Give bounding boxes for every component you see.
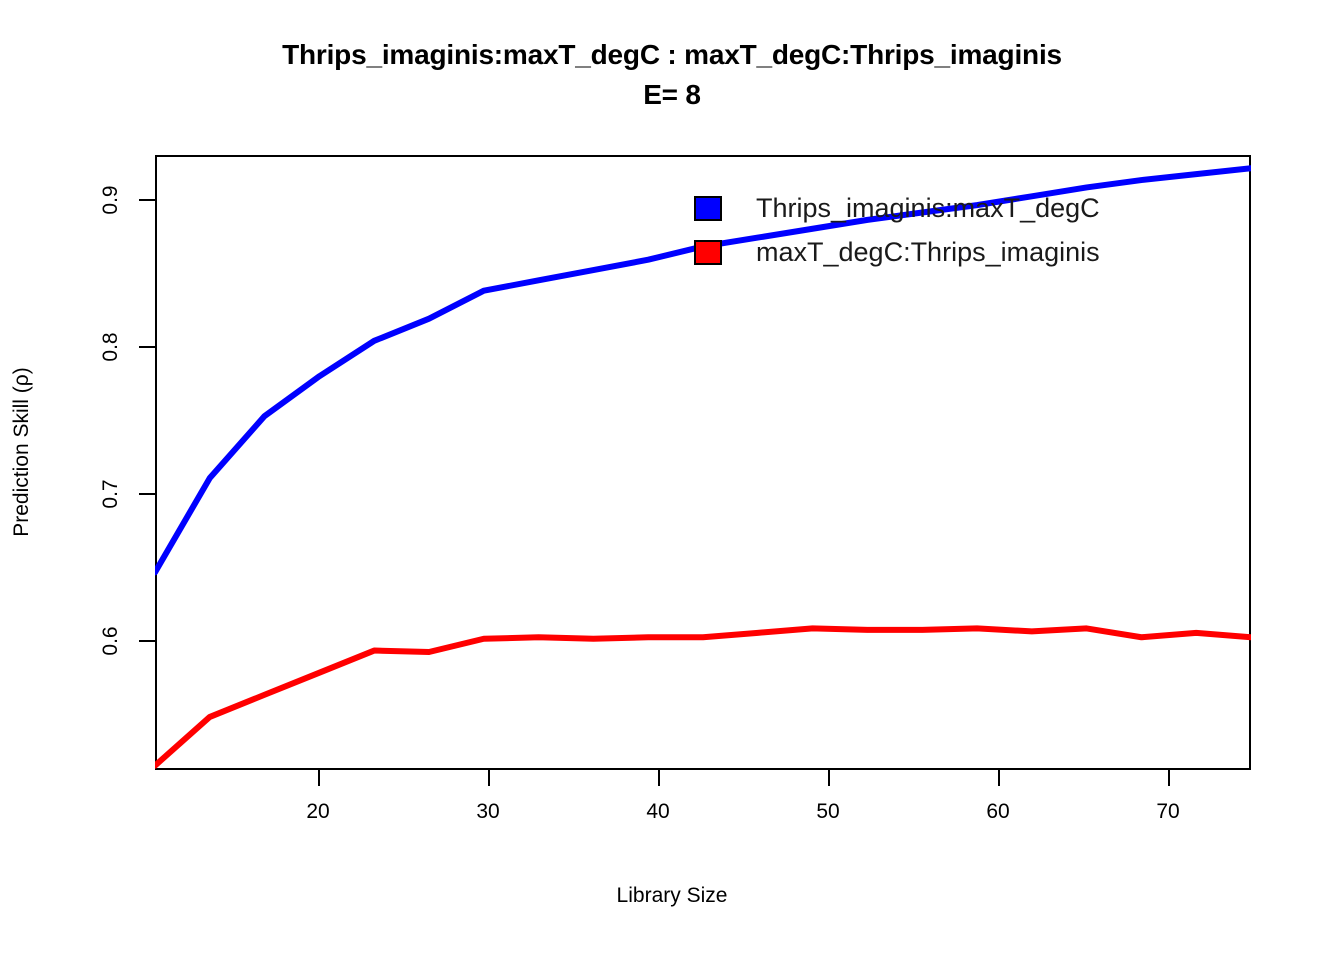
legend-item: Thrips_imaginis:maxT_degC (694, 186, 1254, 230)
x-axis-tick-mark (828, 770, 830, 786)
x-axis-tick-label: 70 (1128, 800, 1208, 824)
y-axis-tick-label: 0.9 (99, 155, 123, 245)
legend-item-label: Thrips_imaginis:maxT_degC (756, 193, 1100, 224)
x-axis-tick-label: 60 (958, 800, 1038, 824)
y-axis-tick-label: 0.6 (99, 596, 123, 686)
y-axis-tick-mark (139, 199, 155, 201)
y-axis-tick-label: 0.8 (99, 302, 123, 392)
x-axis-tick-mark (998, 770, 1000, 786)
x-axis-tick-mark (1168, 770, 1170, 786)
y-axis-tick-mark (139, 640, 155, 642)
x-axis-tick-mark (318, 770, 320, 786)
series-line-maxt-degc-thrips-imaginis (155, 628, 1251, 765)
chart-canvas: Thrips_imaginis:maxT_degC : maxT_degC:Th… (0, 0, 1344, 960)
chart-title-line-2: E= 8 (0, 76, 1344, 114)
x-axis-tick-label: 20 (278, 800, 358, 824)
y-axis-label: Prediction Skill (ρ) (10, 292, 34, 612)
chart-legend: Thrips_imaginis:maxT_degC maxT_degC:Thri… (694, 186, 1254, 274)
red-square-swatch (694, 240, 722, 265)
x-axis-tick-label: 40 (618, 800, 698, 824)
x-axis-tick-mark (488, 770, 490, 786)
y-axis-tick-mark (139, 493, 155, 495)
x-axis-tick-label: 50 (788, 800, 868, 824)
x-axis-tick-mark (658, 770, 660, 786)
chart-title-line-1: Thrips_imaginis:maxT_degC : maxT_degC:Th… (0, 36, 1344, 74)
blue-square-swatch (694, 196, 722, 221)
chart-title: Thrips_imaginis:maxT_degC : maxT_degC:Th… (0, 36, 1344, 114)
y-axis-tick-label: 0.7 (99, 449, 123, 539)
legend-item-label: maxT_degC:Thrips_imaginis (756, 237, 1100, 268)
x-axis-label: Library Size (0, 884, 1344, 908)
legend-item: maxT_degC:Thrips_imaginis (694, 230, 1254, 274)
y-axis-tick-mark (139, 346, 155, 348)
x-axis-tick-label: 30 (448, 800, 528, 824)
